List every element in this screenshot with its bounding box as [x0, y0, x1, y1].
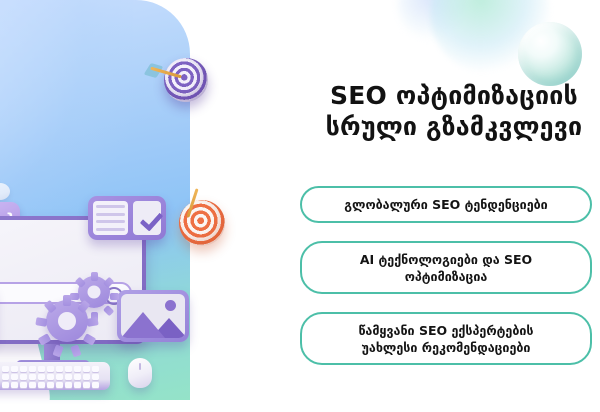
mouse-icon	[128, 358, 152, 388]
banner-canvas: { } SEO ••••	[0, 0, 600, 412]
cloud-icon	[0, 172, 10, 200]
list-lines-icon	[93, 201, 128, 235]
title-line-1: SEO ოპტიმიზაციის	[304, 80, 600, 111]
title-line-2: სრული გზამკვლევი	[304, 111, 600, 142]
page-title: SEO ოპტიმიზაციის სრული გზამკვლევი	[304, 80, 600, 142]
checkmark-icon	[133, 201, 162, 235]
image-card-icon	[117, 290, 189, 342]
dartboard-orange-icon	[179, 200, 225, 246]
feature-pill-2-label: AI ტექნოლოგიები და SEOოპტიმიზაცია	[360, 251, 532, 285]
gear-icon	[46, 300, 88, 342]
keyboard-icon	[0, 362, 110, 390]
checkbox-card-icon	[88, 196, 166, 240]
feature-pill-3[interactable]: წამყვანი SEO ექსპერტებისუახლესი რეკომენდ…	[300, 312, 592, 365]
feature-pill-1-label: გლობალური SEO ტენდენციები	[344, 196, 547, 213]
content-column: SEO ოპტიმიზაციის სრული გზამკვლევი გლობალ…	[292, 0, 600, 412]
feature-pill-list: გლობალური SEO ტენდენციები AI ტექნოლოგიებ…	[292, 186, 600, 365]
feature-pill-1[interactable]: გლობალური SEO ტენდენციები	[300, 186, 592, 223]
feature-pill-2[interactable]: AI ტექნოლოგიები და SEOოპტიმიზაცია	[300, 241, 592, 294]
feature-pill-3-label: წამყვანი SEO ექსპერტებისუახლესი რეკომენდ…	[358, 322, 533, 356]
dartboard-purple-icon	[164, 58, 208, 102]
sun-icon	[165, 300, 176, 311]
